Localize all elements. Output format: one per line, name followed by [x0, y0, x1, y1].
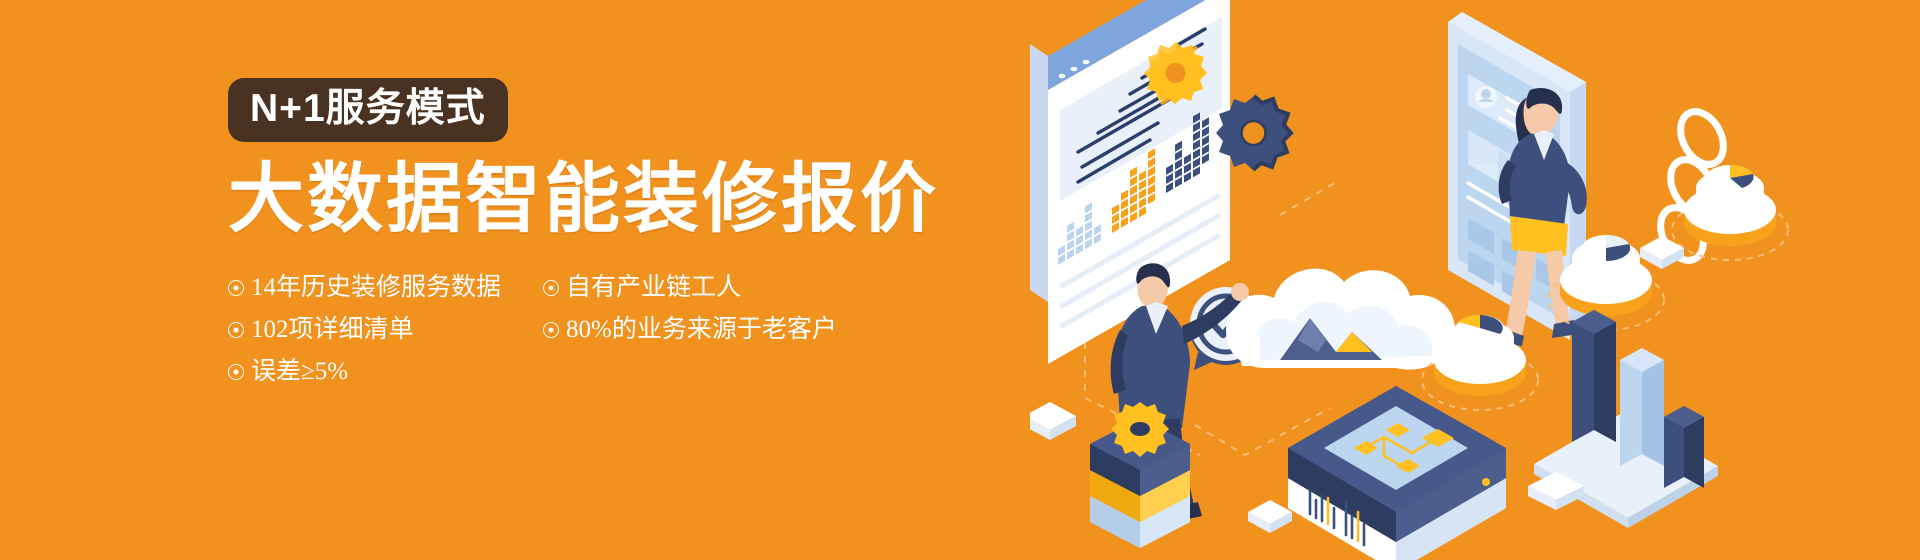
list-item-label: 80%的业务来源于老客户 — [566, 317, 837, 342]
circled-dot-icon — [228, 322, 244, 338]
list-item: 80%的业务来源于老客户 — [543, 309, 968, 351]
circled-dot-icon — [543, 322, 559, 338]
list-item-label: 102项详细清单 — [251, 317, 414, 342]
list-item-label: 14年历史装修服务数据 — [251, 275, 501, 300]
list-item: 102项详细清单 — [228, 309, 533, 351]
cloud — [1226, 269, 1455, 370]
circled-dot-icon — [543, 280, 559, 296]
list-item: 误差≥5% — [228, 351, 533, 393]
promo-banner: N+1服务模式 大数据智能装修报价 14年历史装修服务数据 102项详细清单 误… — [0, 0, 1920, 560]
list-item-label: 自有产业链工人 — [566, 275, 741, 300]
service-model-badge: N+1服务模式 — [228, 78, 508, 142]
isometric-illustration — [1030, 0, 1920, 560]
list-item: 自有产业链工人 — [543, 267, 968, 309]
copy-block: N+1服务模式 大数据智能装修报价 14年历史装修服务数据 102项详细清单 误… — [228, 78, 968, 393]
list-item-label: 误差≥5% — [251, 359, 348, 384]
page-title: 大数据智能装修报价 — [228, 160, 968, 241]
circled-dot-icon — [228, 280, 244, 296]
circled-dot-icon — [228, 364, 244, 380]
list-item: 14年历史装修服务数据 — [228, 267, 533, 309]
feature-bullet-list: 14年历史装修服务数据 102项详细清单 误差≥5% 自有产业链工人 80%的业… — [228, 267, 968, 393]
